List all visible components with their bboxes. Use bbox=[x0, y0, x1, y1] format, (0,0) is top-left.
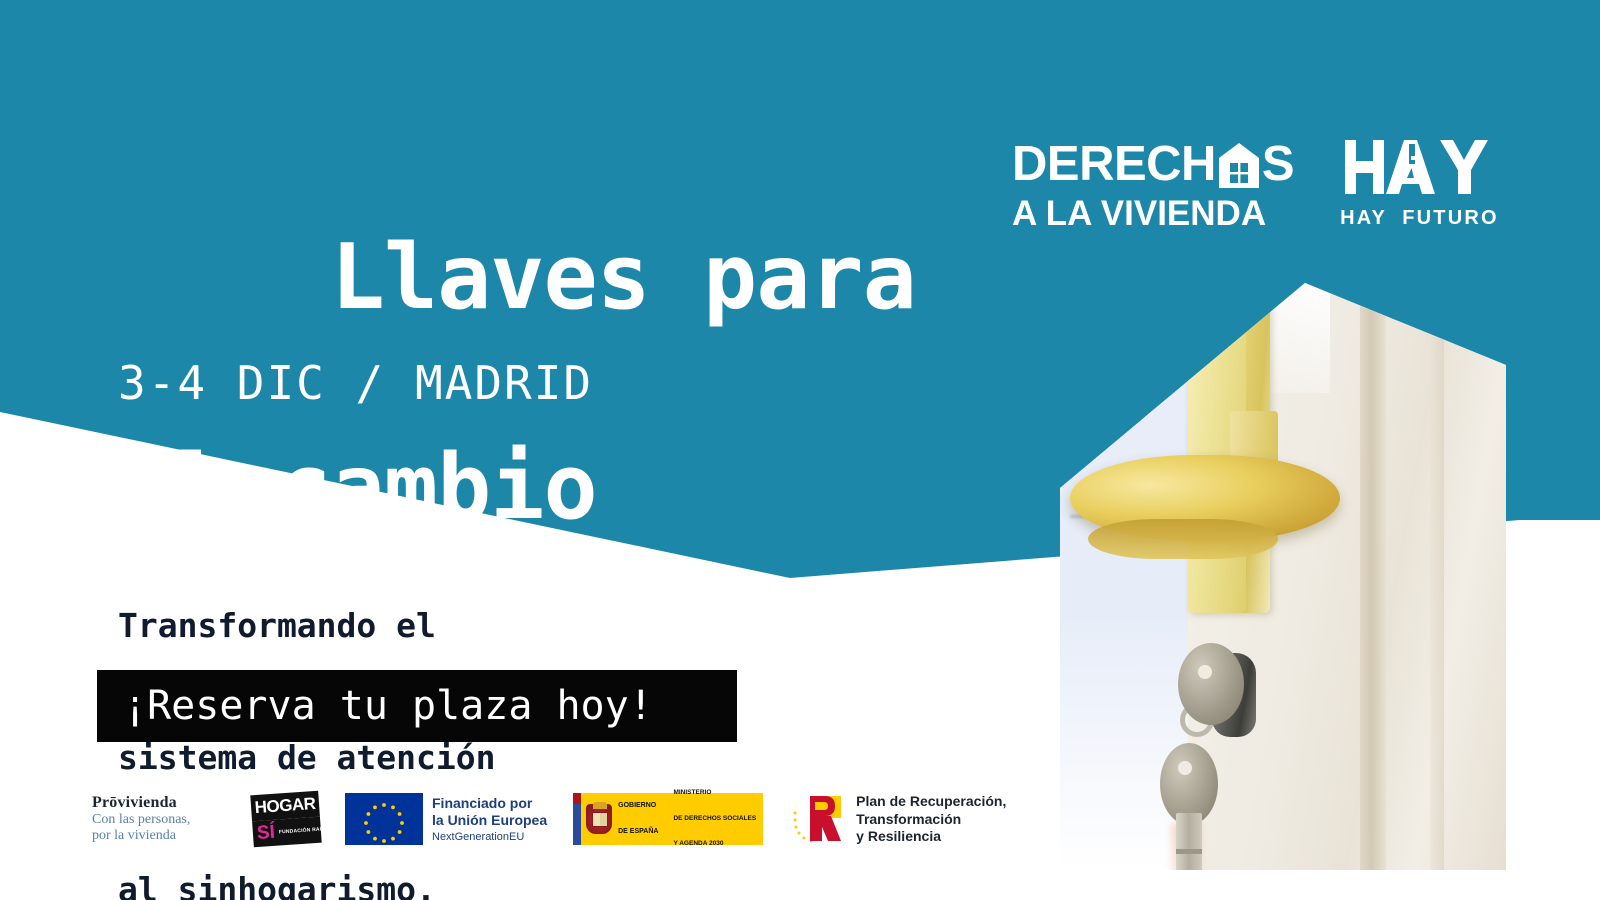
gobierno-line-2: DE ESPAÑA bbox=[618, 828, 658, 837]
plan-line-2: Transformación bbox=[856, 811, 1006, 829]
ministerio-line-1: MINISTERIO bbox=[673, 789, 756, 798]
gobierno-flag-stripe bbox=[573, 793, 581, 845]
derechos-text-after: S bbox=[1262, 140, 1294, 189]
house-icon bbox=[1218, 141, 1260, 189]
plan-pr-mark-icon bbox=[791, 793, 847, 845]
eu-flag-icon bbox=[345, 793, 423, 845]
ministerio-line-3: Y AGENDA 2030 bbox=[673, 840, 756, 849]
reserve-seat-label: ¡Reserva tu plaza hoy! bbox=[97, 683, 653, 729]
gobierno-de-espana-logo: GOBIERNO DE ESPAÑA MINISTERIO DE DERECHO… bbox=[573, 793, 763, 845]
photo-door-jamb-secondary bbox=[1430, 283, 1444, 870]
photo-door-lever-underside bbox=[1088, 519, 1278, 559]
photo-key-one bbox=[1178, 643, 1244, 725]
footer-logo-strip: Prōvivienda Con las personas, por la viv… bbox=[92, 793, 1006, 846]
european-union-funding-logo: Financiado por la Unión Europea NextGene… bbox=[345, 793, 547, 845]
provivienda-tagline-1: Con las personas, bbox=[92, 812, 190, 828]
subtitle-line-3: al sinhogarismo. bbox=[118, 868, 496, 900]
ministerio-line-2: DE DERECHOS SOCIALES bbox=[673, 815, 756, 824]
hay-wordmark-icon bbox=[1345, 140, 1493, 194]
provivienda-tagline-2: por la vivienda bbox=[92, 828, 190, 844]
subtitle-line-2: sistema de atención bbox=[118, 736, 496, 780]
reserve-seat-button[interactable]: ¡Reserva tu plaza hoy! bbox=[97, 670, 737, 742]
subtitle-line-1: Transformando el bbox=[118, 604, 496, 648]
a-la-vivienda-text: A LA VIVIENDA bbox=[1012, 196, 1266, 231]
gobierno-yellow-panel: GOBIERNO DE ESPAÑA MINISTERIO DE DERECHO… bbox=[581, 793, 763, 845]
eu-line-2: la Unión Europea bbox=[432, 812, 547, 829]
gobierno-text: GOBIERNO DE ESPAÑA bbox=[618, 785, 658, 853]
coat-of-arms-icon bbox=[586, 804, 612, 834]
hay-futuro-logo: HAY FUTURO bbox=[1340, 140, 1499, 230]
hogarsi-si-text: SÍ bbox=[252, 822, 275, 845]
hogarsi-logo: HOGAR SÍ FUNDACIÓN RAIS bbox=[250, 791, 321, 848]
eu-line-1: Financiado por bbox=[432, 795, 547, 812]
provivienda-name: Prōvivienda bbox=[92, 793, 190, 812]
derechos-text-before: DERECH bbox=[1012, 140, 1216, 189]
hogarsi-fundacion-text: FUNDACIÓN RAIS bbox=[275, 826, 325, 835]
photo-key-one-hole bbox=[1198, 665, 1212, 679]
hogarsi-hogar-text: HOGAR bbox=[254, 794, 316, 818]
provivienda-logo: Prōvivienda Con las personas, por la viv… bbox=[92, 793, 230, 844]
eu-funding-text: Financiado por la Unión Europea NextGene… bbox=[432, 793, 547, 845]
coat-quarters bbox=[592, 812, 608, 827]
hay-futuro-text: HAY FUTURO bbox=[1340, 207, 1499, 230]
photo-key-two-notch bbox=[1176, 849, 1202, 854]
eu-line-3: NextGenerationEU bbox=[432, 829, 547, 845]
plan-line-1: Plan de Recuperación, bbox=[856, 793, 1006, 811]
title-line-1: Llaves para bbox=[331, 225, 916, 330]
photo-key-two-hole bbox=[1178, 761, 1192, 775]
plan-line-3: y Resiliencia bbox=[856, 828, 1006, 846]
brand-lockup-row: DERECH S A LA VIVIENDA bbox=[1012, 140, 1499, 231]
derechos-wordmark: DERECH S bbox=[1012, 140, 1294, 189]
derechos-a-la-vivienda-logo: DERECH S A LA VIVIENDA bbox=[1012, 140, 1294, 231]
poster-canvas: Llaves para el cambio 3-4 DIC / MADRID D… bbox=[0, 0, 1600, 900]
photo-door-jamb bbox=[1360, 283, 1386, 870]
plan-recuperacion-logo: Plan de Recuperación, Transformación y R… bbox=[791, 793, 1006, 846]
gobierno-line-1: GOBIERNO bbox=[618, 802, 658, 811]
gobierno-flag-stripe-blue bbox=[573, 804, 581, 845]
coat-crown bbox=[593, 802, 607, 809]
ministerio-text: MINISTERIO DE DERECHOS SOCIALES Y AGENDA… bbox=[673, 772, 756, 866]
event-date-location: 3-4 DIC / MADRID bbox=[118, 355, 593, 411]
plan-recuperacion-text: Plan de Recuperación, Transformación y R… bbox=[856, 793, 1006, 846]
hogarsi-bottom-block: SÍ FUNDACIÓN RAIS bbox=[252, 817, 322, 848]
photo-key-two-blade bbox=[1176, 813, 1202, 870]
